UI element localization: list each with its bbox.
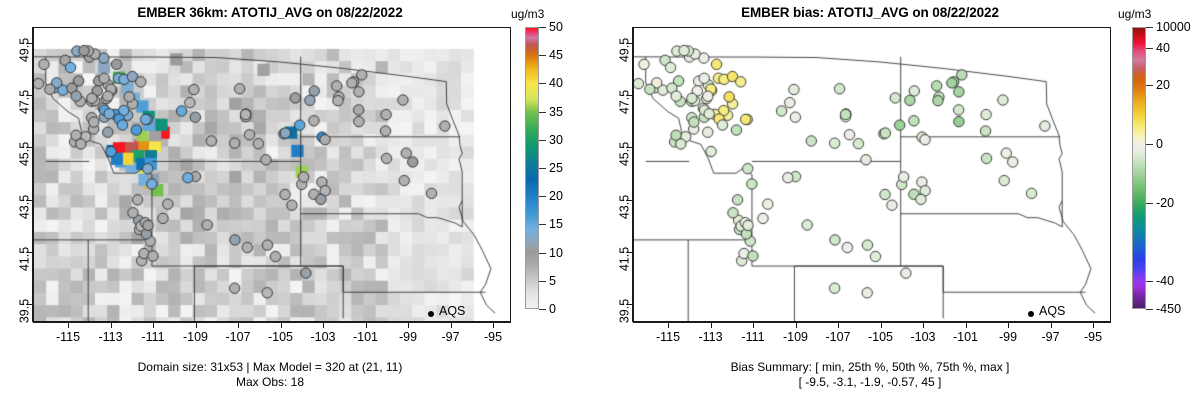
y-tick-label: 43.5 (17, 194, 31, 218)
y-tick-label: 45.5 (617, 142, 631, 166)
colorbar-tick-label: -450 (1156, 302, 1181, 316)
x-tick-label: -107 (825, 330, 850, 344)
caption-line1-model: Domain size: 31x53 | Max Model = 320 at … (0, 360, 540, 375)
x-tick (111, 322, 112, 328)
x-axis-line (633, 322, 1111, 323)
panel-model: EMBER 36km: ATOTIJ_AVG on 08/22/2022 AQS… (0, 0, 600, 409)
bias-field-canvas (634, 28, 1110, 321)
x-tick-label: -99 (999, 330, 1017, 344)
x-tick (668, 322, 669, 328)
colorbar-tick-label: 20 (1156, 78, 1170, 92)
colorbar-tick (539, 83, 546, 84)
x-tick (796, 322, 797, 328)
x-tick-label: -103 (910, 330, 935, 344)
colorbar-tick (539, 253, 546, 254)
x-tick (238, 322, 239, 328)
x-tick-label: -97 (441, 330, 459, 344)
colorbar-unit-bias: ug/m3 (1118, 7, 1151, 21)
y-axis-line (32, 27, 33, 322)
aqs-legend-label-bias: AQS (1039, 304, 1065, 318)
colorbar-tick-label: -20 (1156, 196, 1174, 210)
x-tick-label: -107 (225, 330, 250, 344)
colorbar-tick-label: 40 (1156, 41, 1170, 55)
colorbar-tick (539, 55, 546, 56)
colorbar-tick (1146, 85, 1153, 86)
x-tick (153, 322, 154, 328)
panel-title-bias: EMBER bias: ATOTIJ_AVG on 08/22/2022 (600, 5, 1140, 20)
x-tick-label: -113 (698, 330, 722, 344)
colorbar-tick (539, 281, 546, 282)
colorbar-tick (539, 140, 546, 141)
caption-bias: Bias Summary: [ min, 25th %, 50th %, 75t… (600, 360, 1140, 390)
x-tick-label: -115 (656, 330, 680, 344)
colorbar-tick-label: 20 (549, 189, 563, 203)
caption-model: Domain size: 31x53 | Max Model = 320 at … (0, 360, 540, 390)
caption-line1-bias: Bias Summary: [ min, 25th %, 50th %, 75t… (600, 360, 1140, 375)
x-tick (1008, 322, 1009, 328)
colorbar-tick-label: 5 (549, 274, 556, 288)
x-tick (711, 322, 712, 328)
colorbar-tick (539, 27, 546, 28)
colorbar-unit-model: ug/m3 (511, 7, 544, 21)
x-tick-label: -111 (141, 330, 164, 344)
colorbar-tick-label: 40 (549, 76, 563, 90)
colorbar-tick-label: 15 (549, 217, 563, 231)
colorbar-tick (1146, 48, 1153, 49)
x-tick (923, 322, 924, 328)
figure-root: EMBER 36km: ATOTIJ_AVG on 08/22/2022 AQS… (0, 0, 1200, 409)
x-tick-label: -99 (399, 330, 417, 344)
x-tick (1051, 322, 1052, 328)
x-tick-label: -109 (183, 330, 208, 344)
colorbar-tick (539, 224, 546, 225)
y-axis-line (632, 27, 633, 322)
x-tick-label: -95 (484, 330, 502, 344)
y-tick-label: 49.5 (17, 38, 31, 62)
x-tick (68, 322, 69, 328)
x-tick (1093, 322, 1094, 328)
y-tick-label: 39.5 (617, 299, 631, 323)
x-tick-label: -97 (1041, 330, 1059, 344)
y-axis-bias: 49.547.545.543.541.539.5 (600, 27, 633, 322)
x-tick (366, 322, 367, 328)
aqs-legend-dot-bias (1028, 311, 1034, 317)
y-tick-label: 41.5 (617, 247, 631, 271)
aqs-legend-label-model: AQS (439, 304, 465, 318)
colorbar-tick (539, 309, 546, 310)
y-tick-label: 43.5 (617, 194, 631, 218)
x-tick-label: -95 (1084, 330, 1102, 344)
colorbar-tick (1146, 203, 1153, 204)
colorbar-tick (1146, 281, 1153, 282)
x-tick (838, 322, 839, 328)
colorbar-tick-label: 50 (549, 20, 563, 34)
x-tick (323, 322, 324, 328)
y-tick-label: 41.5 (17, 247, 31, 271)
panel-bias: EMBER bias: ATOTIJ_AVG on 08/22/2022 AQS… (600, 0, 1200, 409)
caption-line2-bias: [ -9.5, -3.1, -1.9, -0.57, 45 ] (600, 375, 1140, 390)
x-tick (408, 322, 409, 328)
y-tick-label: 47.5 (617, 90, 631, 114)
y-axis-model: 49.547.545.543.541.539.5 (0, 27, 33, 322)
colorbar-tick (1146, 309, 1153, 310)
panel-title-model: EMBER 36km: ATOTIJ_AVG on 08/22/2022 (0, 5, 540, 20)
x-tick-label: -115 (56, 330, 80, 344)
x-tick (451, 322, 452, 328)
model-field-canvas (34, 28, 510, 321)
x-tick-label: -105 (868, 330, 893, 344)
x-tick (966, 322, 967, 328)
colorbar-tick (539, 168, 546, 169)
colorbar-tick (1146, 27, 1153, 28)
x-tick-label: -101 (353, 330, 378, 344)
x-tick (753, 322, 754, 328)
x-tick-label: -103 (310, 330, 335, 344)
x-tick-label: -111 (741, 330, 764, 344)
x-tick-label: -101 (953, 330, 978, 344)
x-axis-line (33, 322, 511, 323)
colorbar-tick-label: 10 (549, 246, 563, 260)
aqs-legend-dot-model (428, 311, 434, 317)
y-tick-label: 45.5 (17, 142, 31, 166)
y-tick-label: 47.5 (17, 90, 31, 114)
x-tick-label: -113 (98, 330, 122, 344)
x-axis-bias: -115-113-111-109-107-105-103-101-99-97-9… (633, 322, 1111, 352)
colorbar-tick-label: 0 (1156, 137, 1163, 151)
colorbar-tick (539, 196, 546, 197)
map-plot-bias: AQS (633, 27, 1111, 322)
colorbar-tick-label: -40 (1156, 274, 1174, 288)
colorbar-tick-label: 30 (549, 133, 563, 147)
y-tick-label: 49.5 (617, 38, 631, 62)
x-tick (281, 322, 282, 328)
x-tick-label: -105 (268, 330, 293, 344)
colorbar-tick (1146, 144, 1153, 145)
colorbar-tick-label: 25 (549, 161, 563, 175)
colorbar-tick (539, 112, 546, 113)
colorbar-tick-label: 45 (549, 48, 563, 62)
x-tick (196, 322, 197, 328)
x-axis-model: -115-113-111-109-107-105-103-101-99-97-9… (33, 322, 511, 352)
x-tick-label: -109 (783, 330, 808, 344)
x-tick (881, 322, 882, 328)
colorbar-gradient-bias (1132, 27, 1146, 309)
y-tick-label: 39.5 (17, 299, 31, 323)
colorbar-gradient-model (525, 27, 539, 309)
colorbar-tick-label: 35 (549, 105, 563, 119)
colorbar-tick-label: 10000 (1156, 20, 1191, 34)
map-plot-model: AQS (33, 27, 511, 322)
caption-line2-model: Max Obs: 18 (0, 375, 540, 390)
x-tick (493, 322, 494, 328)
colorbar-tick-label: 0 (549, 302, 556, 316)
